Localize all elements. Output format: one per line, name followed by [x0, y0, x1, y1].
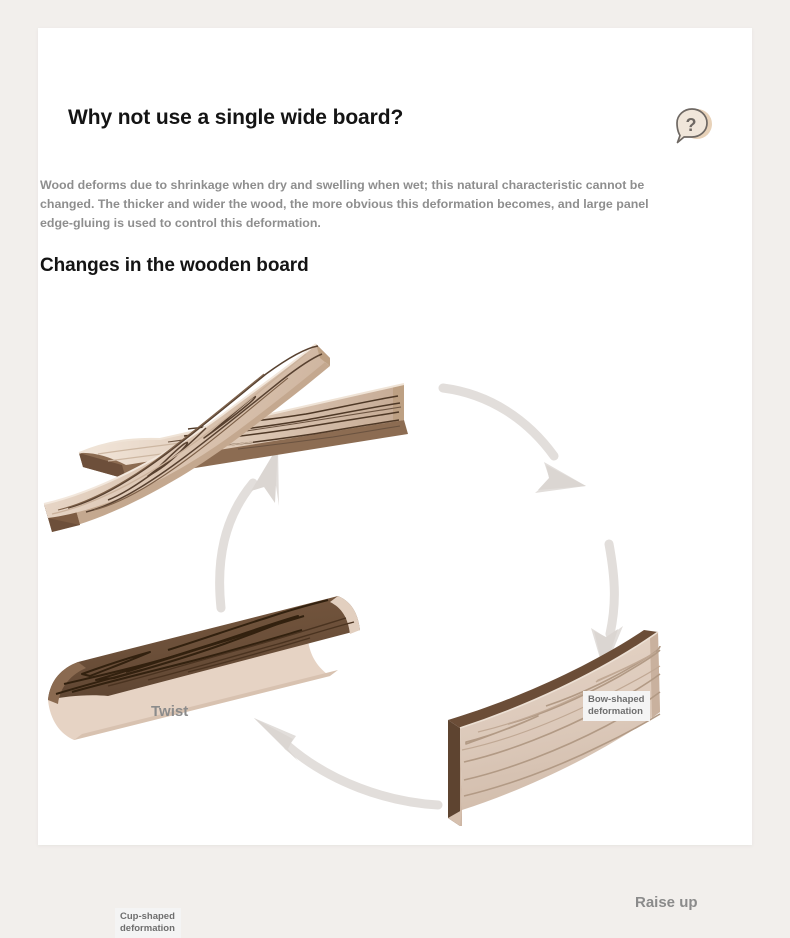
intro-paragraph: Wood deforms due to shrinkage when dry a…	[40, 176, 678, 233]
arrow-twist-to-bow	[443, 388, 586, 493]
label-cup-shaped-deformation: Cup-shaped deformation	[115, 908, 181, 938]
board-cup	[48, 596, 360, 740]
arrow-raise-to-cup	[254, 718, 438, 805]
board-raise-up	[448, 630, 660, 826]
deformation-diagram: Twist Bow-shaped deformation Cup-shaped …	[38, 328, 752, 838]
label-cup-line1: Cup-shaped	[120, 911, 175, 922]
svg-text:?: ?	[686, 115, 697, 135]
question-speech-bubble-icon: ?	[668, 100, 716, 148]
header: Why not use a single wide board? ?	[38, 28, 752, 114]
label-twist: Twist	[151, 703, 188, 720]
help-icon[interactable]: ?	[668, 100, 716, 148]
label-bow-line1: Bow-shaped	[588, 694, 644, 705]
page-card: Why not use a single wide board? ? Wood …	[38, 28, 752, 845]
label-bow-line2: deformation	[588, 706, 643, 717]
label-raise-up: Raise up	[635, 894, 698, 911]
section-heading: Changes in the wooden board	[40, 255, 309, 277]
label-cup-line2: deformation	[120, 923, 175, 934]
label-bow-shaped-deformation: Bow-shaped deformation	[583, 691, 650, 721]
page-title: Why not use a single wide board?	[68, 106, 403, 130]
arrow-cup-to-twist	[220, 446, 279, 608]
